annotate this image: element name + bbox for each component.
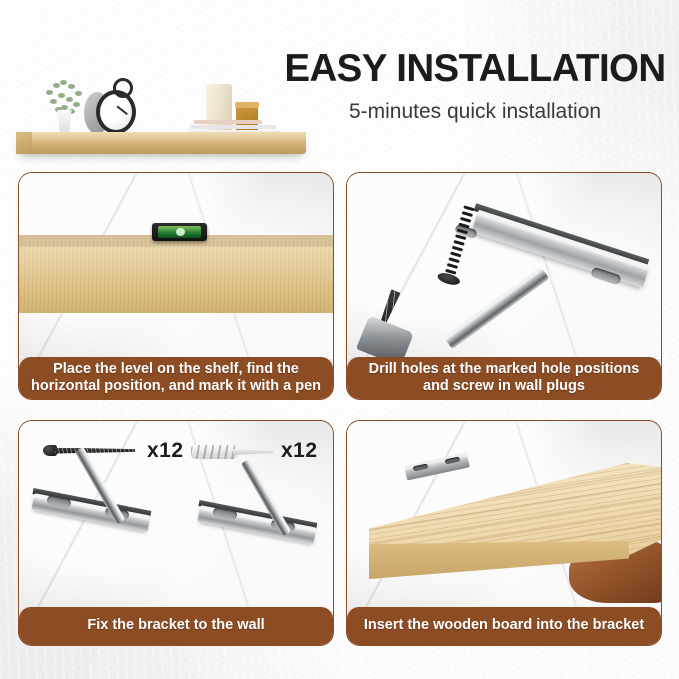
hero-product-photo xyxy=(8,28,308,156)
wall-bracket-right xyxy=(199,495,327,583)
wood-screw-head xyxy=(43,445,57,456)
alarm-clock-icon xyxy=(96,90,136,134)
step-4-caption: Insert the wooden board into the bracket xyxy=(347,607,661,645)
wood-screw-icon xyxy=(43,445,135,456)
step-3-caption-line1: Fix the bracket to the wall xyxy=(87,617,264,634)
step-3-photo: x12 x12 xyxy=(19,421,333,611)
step-1-caption-line1: Place the level on the shelf, find the xyxy=(31,361,321,378)
plug-quantity-label: x12 xyxy=(281,439,318,463)
step-1-photo xyxy=(19,173,333,359)
drill-chuck-icon xyxy=(356,315,414,359)
hero-shelf-board xyxy=(16,132,306,154)
black-screw-icon xyxy=(444,201,476,279)
hero-shelf-end-grain xyxy=(16,132,32,154)
screw-head xyxy=(436,271,461,287)
spirit-level-icon xyxy=(152,223,207,241)
mounted-bracket-icon xyxy=(405,453,471,479)
wood-screw-thread xyxy=(55,448,135,454)
step-4-caption-line1: Insert the wooden board into the bracket xyxy=(364,617,644,634)
step-1-caption-line2: horizontal position, and mark it with a … xyxy=(31,378,321,395)
step-card-2: Drill holes at the marked hole positions… xyxy=(346,172,662,400)
wall-mounted-shelf xyxy=(19,235,333,313)
wall-plug-icon xyxy=(191,445,273,459)
wall-bracket-left xyxy=(33,483,161,571)
wall-plug-tail xyxy=(233,449,273,455)
step-4-photo xyxy=(347,421,661,611)
step-2-caption-line2: and screw in wall plugs xyxy=(369,378,640,395)
screw-quantity-label: x12 xyxy=(147,439,184,463)
step-card-1: Place the level on the shelf, find the h… xyxy=(18,172,334,400)
wall-plug-body xyxy=(191,445,237,459)
step-3-caption: Fix the bracket to the wall xyxy=(19,607,333,645)
page-title: EASY INSTALLATION xyxy=(276,50,674,89)
step-2-caption: Drill holes at the marked hole positions… xyxy=(347,357,661,399)
step-card-3: x12 x12 Fix the bracket to the wall xyxy=(18,420,334,646)
wall-bracket-plate xyxy=(471,210,650,288)
potted-plant-foliage-icon xyxy=(44,80,86,114)
step-1-caption: Place the level on the shelf, find the h… xyxy=(19,357,333,399)
page-subtitle: 5-minutes quick installation xyxy=(276,100,674,123)
step-2-photo xyxy=(347,173,661,359)
step-2-caption-line1: Drill holes at the marked hole positions xyxy=(369,361,640,378)
plant-vase xyxy=(56,110,73,134)
step-card-4: Insert the wooden board into the bracket xyxy=(346,420,662,646)
